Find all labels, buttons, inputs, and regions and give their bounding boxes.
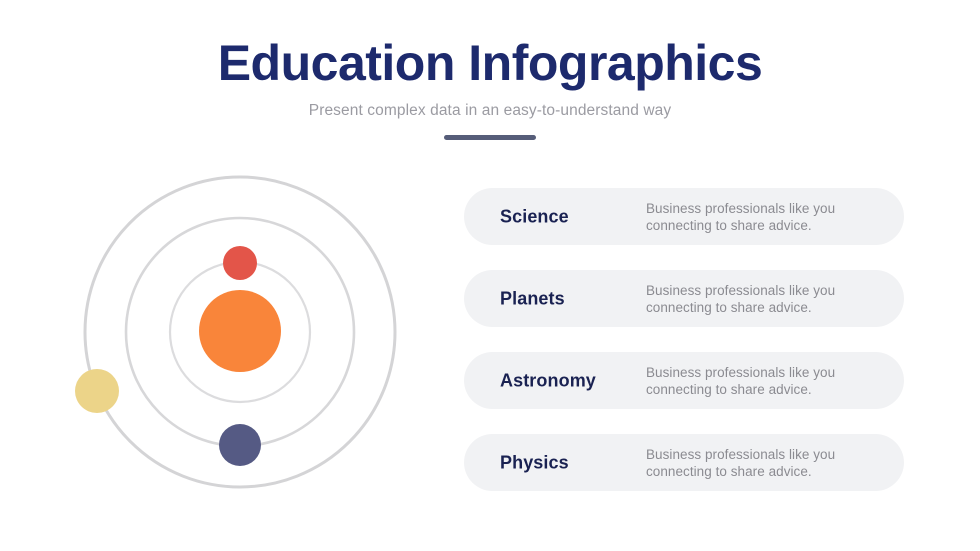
orbit-diagram: [55, 160, 425, 515]
header: Education Infographics Present complex d…: [0, 34, 980, 140]
infographic-slide: Education Infographics Present complex d…: [0, 0, 980, 551]
page-subtitle: Present complex data in an easy-to-under…: [0, 100, 980, 122]
title-divider: [444, 135, 536, 140]
page-title: Education Infographics: [0, 34, 980, 92]
list-item-label: Planets: [500, 288, 565, 309]
list-item-science[interactable]: Science Business professionals like you …: [464, 188, 904, 245]
sun: [199, 290, 281, 372]
planet-red: [223, 246, 257, 280]
list-item-description: Business professionals like you connecti…: [646, 282, 884, 316]
planet-yellow: [75, 369, 119, 413]
list-item-description: Business professionals like you connecti…: [646, 446, 884, 480]
list-item-description: Business professionals like you connecti…: [646, 200, 884, 234]
list-item-physics[interactable]: Physics Business professionals like you …: [464, 434, 904, 491]
list-item-description: Business professionals like you connecti…: [646, 364, 884, 398]
planet-navy: [219, 424, 261, 466]
list-item-label: Astronomy: [500, 370, 596, 391]
list-item-label: Physics: [500, 452, 569, 473]
list-item-label: Science: [500, 206, 569, 227]
list-item-planets[interactable]: Planets Business professionals like you …: [464, 270, 904, 327]
topic-list: Science Business professionals like you …: [464, 188, 904, 491]
list-item-astronomy[interactable]: Astronomy Business professionals like yo…: [464, 352, 904, 409]
